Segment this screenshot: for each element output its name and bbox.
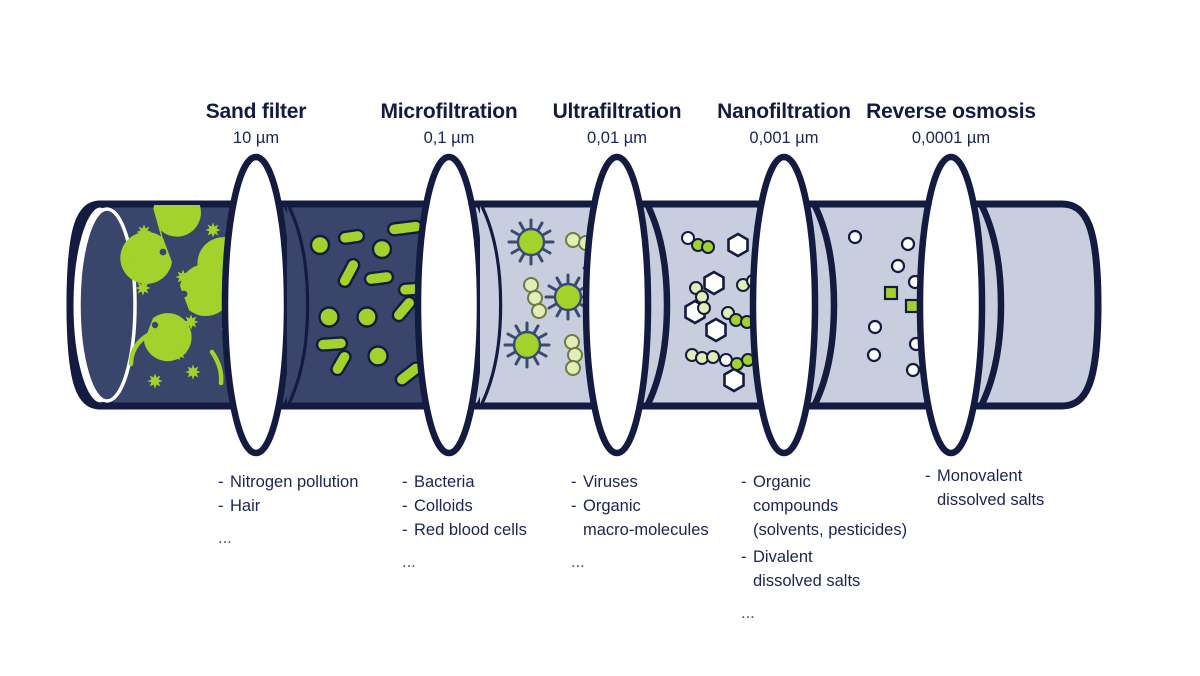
stage-size-microfiltration: 0,1 µm <box>424 129 475 147</box>
list-item: Nitrogen pollution <box>230 473 358 491</box>
list-item: Monovalent <box>937 467 1023 485</box>
bullet-marker: - <box>571 473 577 491</box>
diagram-canvas: Sand filter 10 µm Microfiltration 0,1 µm… <box>0 0 1200 676</box>
removal-list-microfiltration: - Bacteria - Colloids - Red blood cells … <box>402 473 527 571</box>
list-item-continuation: macro-molecules <box>583 521 709 539</box>
list-ellipsis: ... <box>402 553 416 571</box>
list-item: Viruses <box>583 473 638 491</box>
list-ellipsis: ... <box>741 604 755 622</box>
stage-title-sand-filter: Sand filter <box>206 100 307 123</box>
bullet-marker: - <box>741 473 747 491</box>
stage-titles: Sand filter 10 µm Microfiltration 0,1 µm… <box>206 100 1036 147</box>
bullet-marker: - <box>402 497 408 515</box>
bullet-marker: - <box>218 473 224 491</box>
stage-size-ultrafiltration: 0,01 µm <box>587 129 647 147</box>
removal-list-reverse-osmosis: - Monovalent dissolved salts <box>925 467 1044 509</box>
membrane-nanofiltration[interactable] <box>753 157 815 453</box>
list-item: Divalent <box>753 548 813 566</box>
list-item-continuation: compounds <box>753 497 838 515</box>
filtration-diagram: Sand filter 10 µm Microfiltration 0,1 µm… <box>0 0 1200 676</box>
stage-size-reverse-osmosis: 0,0001 µm <box>912 129 990 147</box>
stage-title-ultrafiltration: Ultrafiltration <box>553 100 682 123</box>
stage-size-sand-filter: 10 µm <box>233 129 279 147</box>
bullet-marker: - <box>218 497 224 515</box>
stage-size-nanofiltration: 0,001 µm <box>749 129 818 147</box>
membrane-microfiltration[interactable] <box>418 157 480 453</box>
list-item: Organic <box>753 473 811 491</box>
pipe-left-mouth-inner <box>79 209 135 401</box>
list-item: Bacteria <box>414 473 475 491</box>
stage-title-nanofiltration: Nanofiltration <box>717 100 851 123</box>
list-item-continuation: dissolved salts <box>937 491 1044 509</box>
bullet-marker: - <box>925 467 931 485</box>
list-ellipsis: ... <box>571 553 585 571</box>
membrane-pipe-crossings <box>226 84 287 525</box>
bullet-marker: - <box>402 473 408 491</box>
removal-list-sand-filter: - Nitrogen pollution - Hair ... <box>218 473 358 547</box>
list-ellipsis: ... <box>218 529 232 547</box>
bullet-marker: - <box>402 521 408 539</box>
list-item: Organic <box>583 497 641 515</box>
removal-list-nanofiltration: - Organic compounds (solvents, pesticide… <box>741 473 907 622</box>
list-item-continuation: (solvents, pesticides) <box>753 521 907 539</box>
stage-title-microfiltration: Microfiltration <box>381 100 518 123</box>
bullet-marker: - <box>741 548 747 566</box>
membrane-reverse-osmosis[interactable] <box>920 157 982 453</box>
stage-title-reverse-osmosis: Reverse osmosis <box>866 100 1036 123</box>
bullet-marker: - <box>571 497 577 515</box>
list-item: Red blood cells <box>414 521 527 539</box>
list-item: Hair <box>230 497 261 515</box>
removal-list-ultrafiltration: - Viruses - Organic macro-molecules ... <box>571 473 709 571</box>
membrane-ultrafiltration[interactable] <box>586 157 648 453</box>
list-item: Colloids <box>414 497 473 515</box>
list-item-continuation: dissolved salts <box>753 572 860 590</box>
